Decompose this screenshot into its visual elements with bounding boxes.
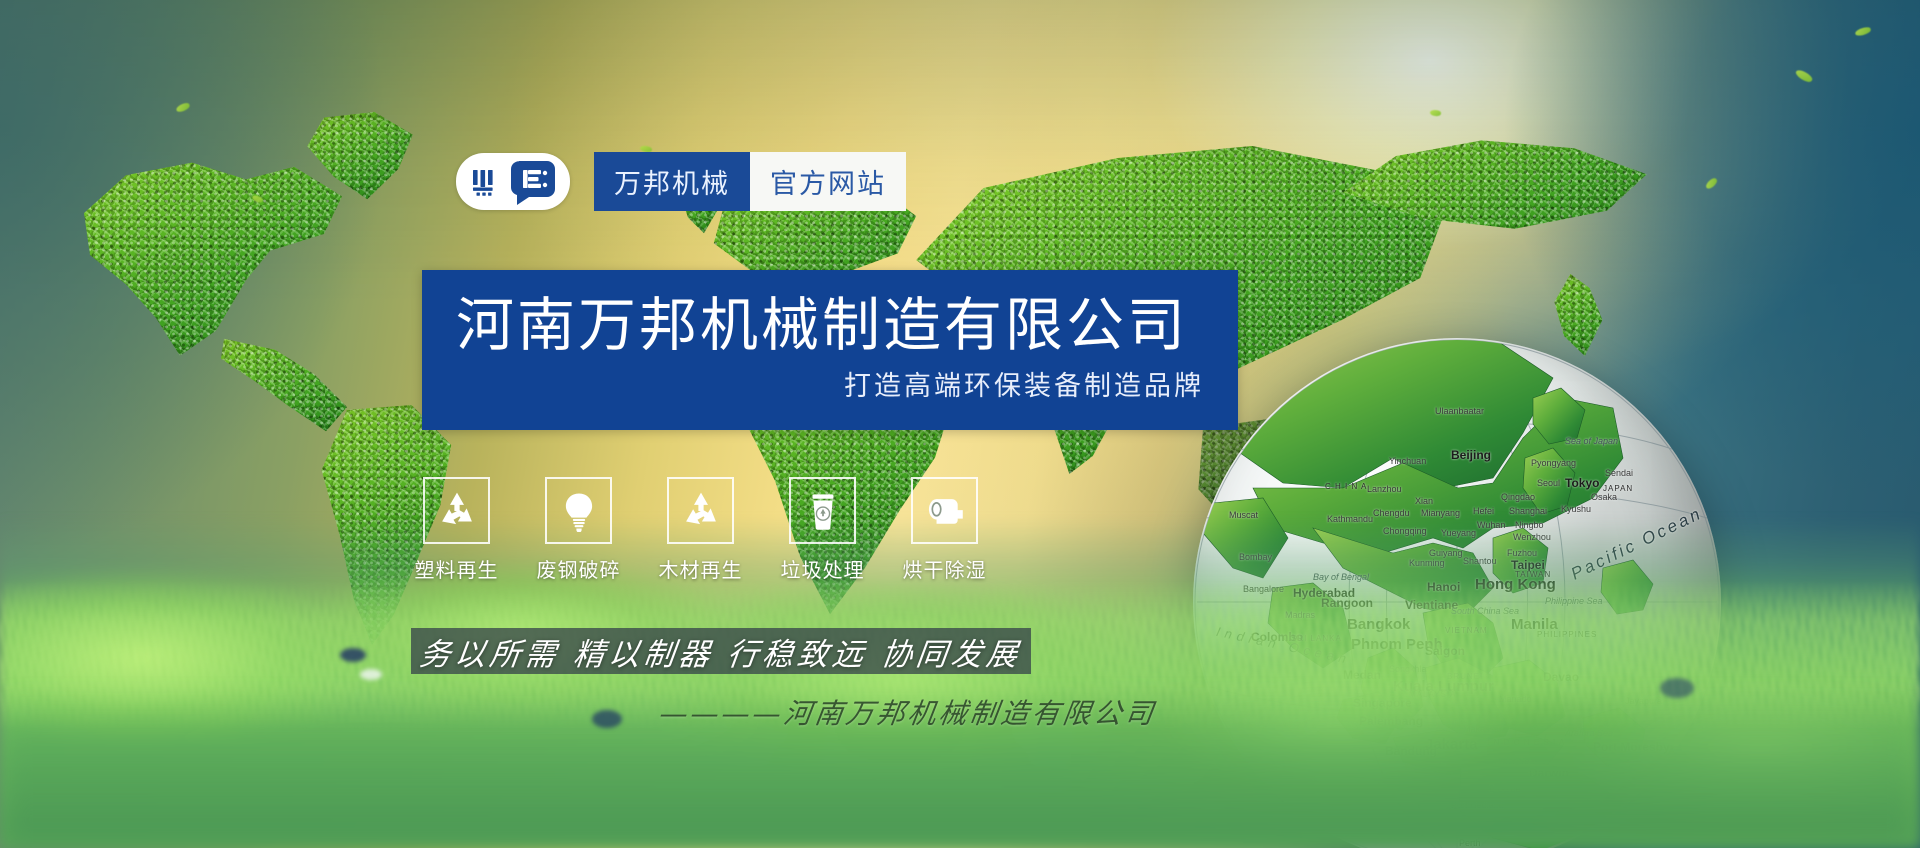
globe-country-label: C H I N A: [1325, 482, 1367, 491]
logo-b-speech-bubble-icon: [509, 159, 557, 205]
globe-city-label: Xian: [1415, 496, 1433, 506]
logo-w-icon: [470, 166, 504, 198]
feature-icon-box: [423, 477, 490, 544]
globe-sea-label: Sea of Japan: [1565, 436, 1618, 446]
slogan-signature: ————河南万邦机械制造有限公司: [657, 692, 1183, 732]
globe-city-label: Ulaanbaatar: [1435, 406, 1484, 416]
feature-icon-row: 塑料再生 废钢破碎: [423, 477, 978, 583]
slogan-text: 务以所需 精以制器 行稳致远 协同发展: [417, 629, 1024, 674]
feature-item-drying-dehumidification[interactable]: 烘干除湿: [911, 477, 978, 583]
tab-official-website[interactable]: 官方网站: [750, 152, 906, 211]
logo-badge[interactable]: [456, 153, 570, 210]
globe-country-label: JAPAN: [1603, 484, 1633, 493]
continent-north-america: [60, 150, 360, 360]
main-title-banner: 河南万邦机械制造有限公司 打造高端环保装备制造品牌: [422, 270, 1238, 430]
site-nav-tabs: 万邦机械 官方网站: [594, 152, 906, 211]
feature-label: 垃圾处理: [781, 554, 865, 583]
grass-dew-spot: [1660, 678, 1694, 698]
globe-city-label: Pyongyang: [1531, 458, 1576, 468]
feature-label: 废钢破碎: [537, 554, 621, 583]
grass-dew-spot: [340, 648, 366, 662]
trash-bin-icon: [802, 490, 844, 532]
feature-icon-box: [789, 477, 856, 544]
recycle-icon: [680, 490, 722, 532]
globe-city-label: Shanghai: [1509, 506, 1547, 516]
dryer-blower-icon: [923, 490, 967, 532]
globe-city-label: Seoul: [1537, 478, 1560, 488]
globe-city-label: Chengdu: [1373, 508, 1410, 518]
feature-icon-box: [911, 477, 978, 544]
globe-city-label: Qingdao: [1501, 492, 1535, 502]
globe-city-label: Hefei: [1473, 506, 1494, 516]
globe-city-label: Beijing: [1451, 448, 1491, 462]
globe-city-label: Sendai: [1605, 468, 1633, 478]
lightbulb-icon: [558, 490, 600, 532]
globe-city-label: Lanzhou: [1367, 484, 1402, 494]
recycle-icon: [436, 490, 478, 532]
tab-company-name[interactable]: 万邦机械: [594, 152, 750, 211]
page-subtitle: 打造高端环保装备制造品牌: [456, 364, 1204, 403]
feature-item-wood-recycling[interactable]: 木材再生: [667, 477, 734, 583]
feature-item-scrap-steel-crushing[interactable]: 废钢破碎: [545, 477, 612, 583]
page-title: 河南万邦机械制造有限公司: [456, 288, 1204, 362]
feature-item-plastic-recycling[interactable]: 塑料再生: [423, 477, 490, 583]
hero-banner: Pacific Ocean Indian Ocean Ulaanbaatar B…: [0, 0, 1920, 848]
globe-city-label: Mianyang: [1421, 508, 1460, 518]
globe-city-label: Osaka: [1591, 492, 1617, 502]
grass-dew-spot: [592, 710, 622, 728]
brand-header: 万邦机械 官方网站: [456, 152, 906, 211]
feature-icon-box: [667, 477, 734, 544]
feature-label: 木材再生: [659, 554, 743, 583]
feature-item-waste-treatment[interactable]: 垃圾处理: [789, 477, 856, 583]
grass-dew-spot: [360, 669, 382, 680]
globe-city-label: Tokyo: [1565, 476, 1599, 490]
feature-label: 塑料再生: [415, 554, 499, 583]
globe-city-label: Kyushu: [1561, 504, 1591, 514]
slogan-bar: 务以所需 精以制器 行稳致远 协同发展: [411, 628, 1031, 674]
feature-icon-box: [545, 477, 612, 544]
globe-city-label: Yinchuan: [1389, 456, 1426, 466]
feature-label: 烘干除湿: [903, 554, 987, 583]
